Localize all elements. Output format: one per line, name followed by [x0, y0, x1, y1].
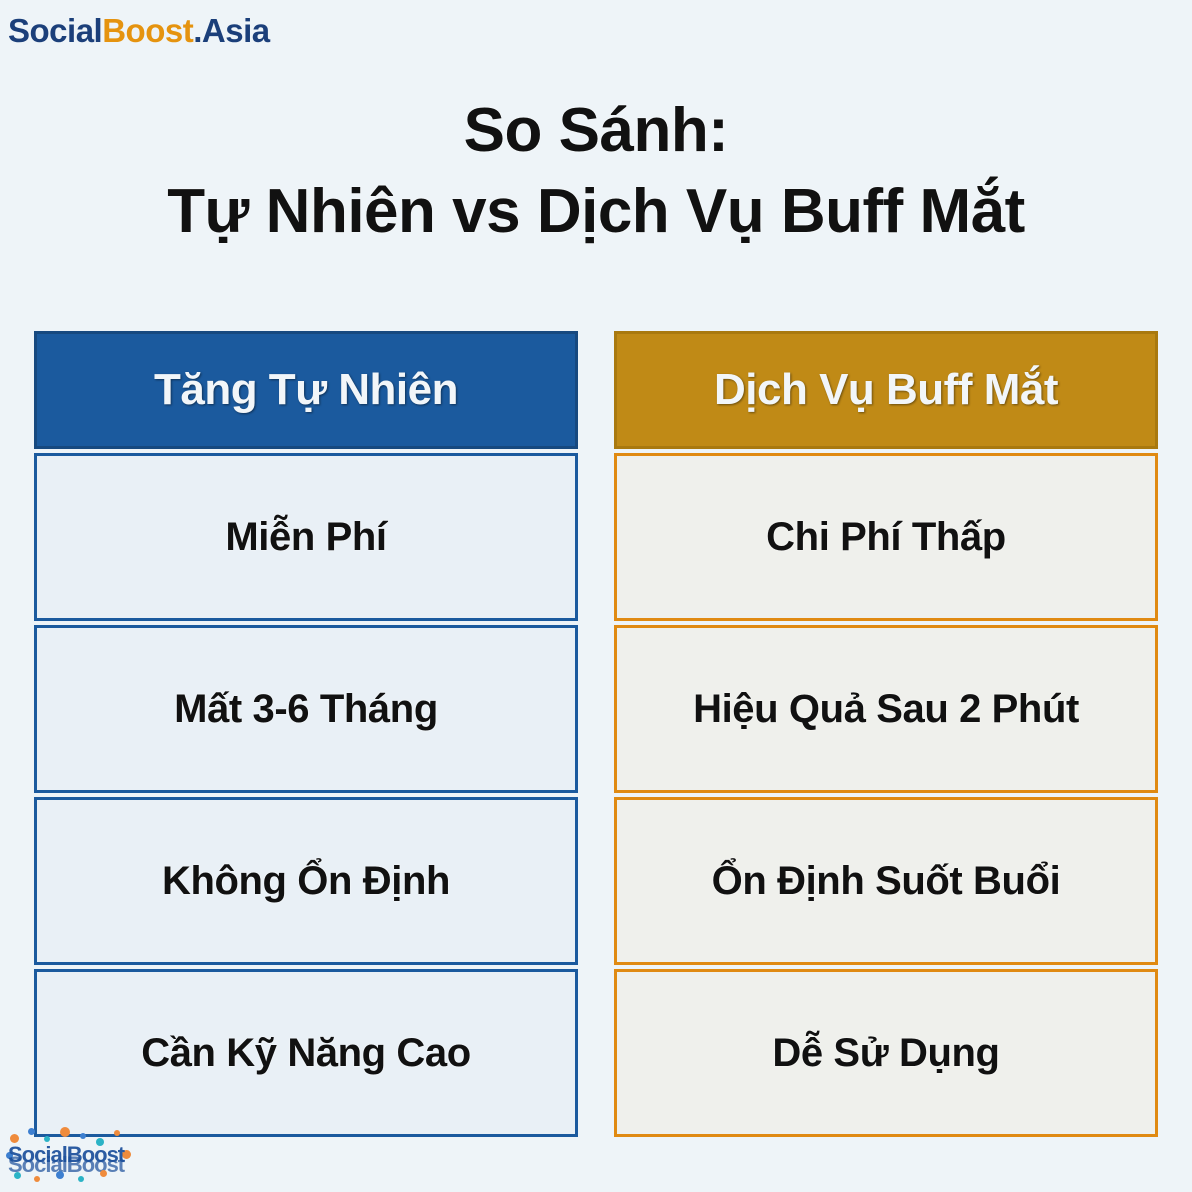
watermark-text-front: SocialBoost: [8, 1142, 124, 1168]
confetti-dot: [6, 1152, 13, 1159]
confetti-dot: [96, 1138, 104, 1146]
watermark-text-back: SocialBoost: [8, 1152, 124, 1178]
confetti-dot: [122, 1150, 131, 1159]
table-row: Hiệu Quả Sau 2 Phút: [614, 625, 1158, 793]
confetti-dot: [78, 1176, 84, 1182]
comparison-table: Tăng Tự Nhiên Miễn Phí Mất 3-6 Tháng Khô…: [34, 331, 1158, 1137]
confetti-dot: [10, 1134, 19, 1143]
comparison-column-natural: Tăng Tự Nhiên Miễn Phí Mất 3-6 Tháng Khô…: [34, 331, 578, 1137]
comparison-column-service: Dịch Vụ Buff Mắt Chi Phí Thấp Hiệu Quả S…: [614, 331, 1158, 1137]
table-row: Cần Kỹ Năng Cao: [34, 969, 578, 1137]
page-title-line-2: Tự Nhiên vs Dịch Vụ Buff Mắt: [0, 179, 1192, 246]
page-title-line-1: So Sánh:: [0, 98, 1192, 165]
column-header-natural: Tăng Tự Nhiên: [34, 331, 578, 449]
brand-logo-boost: Boost: [102, 12, 193, 49]
table-row: Dễ Sử Dụng: [614, 969, 1158, 1137]
column-rows-service: Chi Phí Thấp Hiệu Quả Sau 2 Phút Ổn Định…: [614, 449, 1158, 1137]
table-row: Ổn Định Suốt Buổi: [614, 797, 1158, 965]
confetti-dot: [100, 1170, 107, 1177]
table-row: Không Ổn Định: [34, 797, 578, 965]
brand-logo: SocialBoost.Asia: [8, 14, 270, 47]
column-rows-natural: Miễn Phí Mất 3-6 Tháng Không Ổn Định Cần…: [34, 449, 578, 1137]
confetti-dot: [56, 1171, 64, 1179]
brand-logo-social: Social: [8, 12, 102, 49]
table-row: Mất 3-6 Tháng: [34, 625, 578, 793]
column-header-service: Dịch Vụ Buff Mắt: [614, 331, 1158, 449]
table-row: Miễn Phí: [34, 453, 578, 621]
confetti-dot: [34, 1176, 40, 1182]
brand-logo-asia: .Asia: [193, 12, 269, 49]
table-row: Chi Phí Thấp: [614, 453, 1158, 621]
confetti-dot: [14, 1172, 21, 1179]
page-title: So Sánh: Tự Nhiên vs Dịch Vụ Buff Mắt: [0, 98, 1192, 246]
